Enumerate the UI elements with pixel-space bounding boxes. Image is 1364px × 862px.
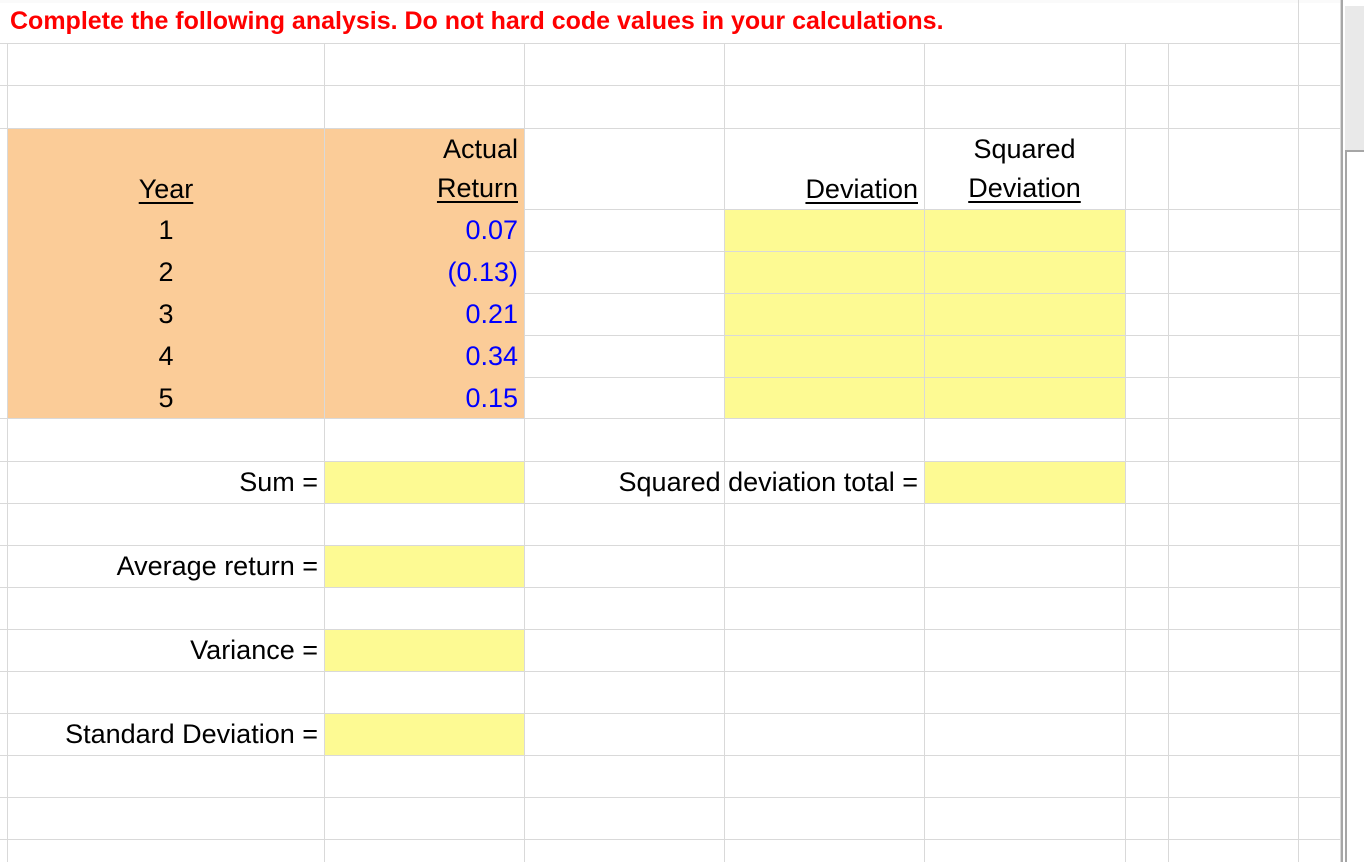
gridline-v xyxy=(1125,43,1126,862)
label-sum-text: Sum = xyxy=(239,469,318,496)
column-header-year-label: Year xyxy=(139,176,194,203)
cell-actual-return-1-value: 0.07 xyxy=(465,217,518,244)
cell-actual-return-4[interactable]: 0.34 xyxy=(324,335,524,377)
gridline-h xyxy=(0,755,1341,756)
cell-year-1[interactable]: 1 xyxy=(8,209,324,251)
instruction-banner: Complete the following analysis. Do not … xyxy=(10,0,944,43)
cell-squared-deviation-5[interactable] xyxy=(925,377,1125,419)
column-header-year: Year xyxy=(8,168,324,210)
vertical-scrollbar-thumb[interactable] xyxy=(1345,6,1364,152)
value-average-return[interactable] xyxy=(324,545,524,587)
cell-year-2-value: 2 xyxy=(158,259,173,286)
gridline-h xyxy=(0,128,1341,129)
column-header-squared-deviation-line2: Deviation xyxy=(968,169,1081,207)
label-variance-text: Variance = xyxy=(190,637,318,664)
gridline-h xyxy=(0,797,1341,798)
column-header-deviation: Deviation xyxy=(724,168,924,210)
cell-year-1-value: 1 xyxy=(158,217,173,244)
cell-year-2[interactable]: 2 xyxy=(8,251,324,293)
cell-year-5-value: 5 xyxy=(158,385,173,412)
cell-deviation-5[interactable] xyxy=(724,377,924,419)
cell-squared-deviation-1[interactable] xyxy=(925,209,1125,251)
cell-actual-return-2[interactable]: (0.13) xyxy=(324,251,524,293)
vertical-scrollbar-track[interactable] xyxy=(1345,152,1347,862)
cell-year-5[interactable]: 5 xyxy=(8,377,324,419)
scrollbar-separator xyxy=(1341,0,1343,862)
cell-actual-return-2-value: (0.13) xyxy=(447,259,518,286)
gridline-h xyxy=(0,839,1341,840)
cell-actual-return-1[interactable]: 0.07 xyxy=(324,209,524,251)
cell-squared-deviation-4[interactable] xyxy=(925,335,1125,377)
gridline-v xyxy=(1168,43,1169,862)
gridline-v xyxy=(524,43,525,862)
cell-squared-deviation-3[interactable] xyxy=(925,293,1125,335)
value-sum[interactable] xyxy=(324,461,524,503)
column-header-squared-deviation: Squared Deviation xyxy=(924,128,1125,209)
cell-squared-deviation-2[interactable] xyxy=(925,251,1125,293)
gridline-v xyxy=(1298,0,1299,862)
cell-deviation-1[interactable] xyxy=(724,209,924,251)
cell-actual-return-3[interactable]: 0.21 xyxy=(324,293,524,335)
label-standard-deviation: Standard Deviation = xyxy=(0,713,324,755)
value-variance[interactable] xyxy=(324,629,524,671)
cell-year-4-value: 4 xyxy=(158,343,173,370)
label-average-return-text: Average return = xyxy=(117,553,318,580)
cell-year-3-value: 3 xyxy=(158,301,173,328)
gridline-h xyxy=(0,43,1341,44)
cell-actual-return-3-value: 0.21 xyxy=(465,301,518,328)
cell-year-3[interactable]: 3 xyxy=(8,293,324,335)
label-standard-deviation-text: Standard Deviation = xyxy=(65,721,318,748)
column-header-deviation-label: Deviation xyxy=(805,176,918,203)
column-header-actual-return-line2: Return xyxy=(437,169,518,207)
spreadsheet-canvas[interactable]: Complete the following analysis. Do not … xyxy=(0,0,1364,862)
value-standard-deviation[interactable] xyxy=(324,713,524,755)
gridline-h xyxy=(0,503,1341,504)
label-sum: Sum = xyxy=(8,461,324,503)
column-header-squared-deviation-line1: Squared xyxy=(973,130,1075,168)
cell-year-4[interactable]: 4 xyxy=(8,335,324,377)
column-header-actual-return-line1: Actual xyxy=(443,130,518,168)
vertical-scrollbar[interactable] xyxy=(1341,0,1364,862)
cell-deviation-3[interactable] xyxy=(724,293,924,335)
label-variance: Variance = xyxy=(8,629,324,671)
gridline-v xyxy=(724,43,725,862)
column-header-actual-return: Actual Return xyxy=(324,128,524,209)
cell-actual-return-5-value: 0.15 xyxy=(465,385,518,412)
label-squared-deviation-total: Squared deviation total = xyxy=(524,461,924,503)
label-average-return: Average return = xyxy=(8,545,324,587)
cell-deviation-4[interactable] xyxy=(724,335,924,377)
gridline-h xyxy=(0,85,1341,86)
cell-deviation-2[interactable] xyxy=(724,251,924,293)
cell-actual-return-4-value: 0.34 xyxy=(465,343,518,370)
gridline-h xyxy=(0,671,1341,672)
cell-actual-return-5[interactable]: 0.15 xyxy=(324,377,524,419)
label-squared-deviation-total-text: Squared deviation total = xyxy=(619,469,918,496)
gridline-h xyxy=(0,587,1341,588)
value-squared-deviation-total[interactable] xyxy=(925,461,1125,503)
